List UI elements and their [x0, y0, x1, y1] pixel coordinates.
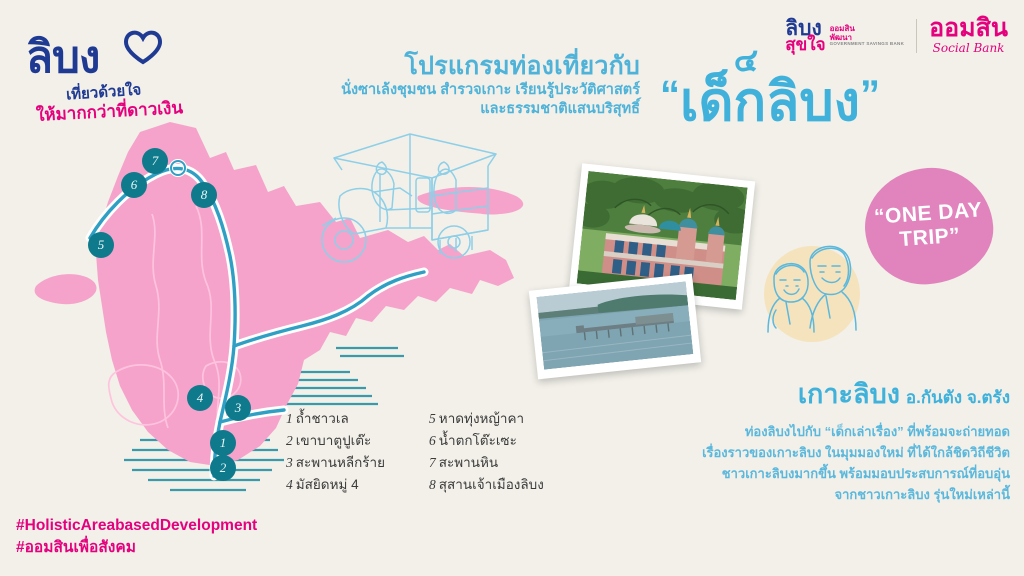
- gsb-bank-english: Social Bank: [929, 41, 1008, 55]
- island-description-line-4: จากชาวเกาะลิบง รุ่นใหม่เหล่านี้: [640, 484, 1010, 505]
- map-marker-3[interactable]: 3: [225, 395, 251, 421]
- island-description-line-2: เรื่องราวของเกาะลิบง ในมุมมองใหม่ ที่ได้…: [640, 442, 1010, 463]
- legend-label: หาดทุ่งหญ้าคา: [439, 411, 524, 426]
- legend-number: 4: [286, 477, 293, 492]
- legend-number: 7: [429, 455, 436, 470]
- program-subtitle-1: นั่งซาเล้งชุมชน สำรวจเกาะ เรียนรู้ประวัต…: [300, 81, 640, 101]
- map-marker-7[interactable]: 7: [142, 148, 168, 174]
- legend-number: 5: [429, 411, 436, 426]
- legend-number: 8: [429, 477, 436, 492]
- heart-icon: [122, 26, 164, 66]
- poster-canvas: ลิบง เที่ยวด้วยใจ ให้มากกว่าที่ดาวเงิน ล…: [0, 0, 1024, 576]
- big-title-word: เด็กลิบง: [680, 72, 860, 132]
- legend-item: 5หาดทุ่งหญ้าคา: [429, 408, 544, 430]
- legend-label: สะพานหิน: [439, 455, 498, 470]
- legend-item: 8สุสานเจ้าเมืองลิบง: [429, 474, 544, 496]
- legend-number: 6: [429, 433, 436, 448]
- legend-label: สะพานหลีกร้าย: [296, 455, 385, 470]
- island-description-block: เกาะลิบงอ.กันตัง จ.ตรัง ท่องลิบงไปกับ “เ…: [640, 372, 1010, 505]
- legend-number: 3: [286, 455, 293, 470]
- map-marker-8[interactable]: 8: [191, 182, 217, 208]
- brand-logo-text: ลิบง: [26, 36, 99, 80]
- gsb-bank-logo: ออมสิน Social Bank: [929, 16, 1008, 55]
- legend-label: เขาบาตูปูเต๊ะ: [296, 433, 372, 448]
- two-children-illustration: [752, 232, 870, 350]
- legend-item: 1ถ้ำชาวเล: [286, 408, 385, 430]
- one-day-trip-badge: “ONE DAY TRIP”: [861, 164, 997, 289]
- map-marker-1[interactable]: 1: [210, 430, 236, 456]
- legend-item: 2เขาบาตูปูเต๊ะ: [286, 430, 385, 452]
- big-title-number: ๔: [572, 46, 920, 75]
- gsb-bank-thai: ออมสิน: [929, 16, 1008, 41]
- legend-number: 2: [286, 433, 293, 448]
- saleng-tuktuk-illustration: [282, 118, 512, 278]
- hashtags-block: #HolisticAreabasedDevelopment #ออมสินเพื…: [16, 515, 257, 558]
- legend-number: 1: [286, 411, 293, 426]
- legend-label: มัสยิดหมู่ 4: [296, 477, 359, 492]
- gsb-develop-text: ออมสิน พัฒนา GOVERNMENT SAVINGS BANK: [830, 25, 905, 47]
- island-description-line-3: ชาวเกาะลิบงมากขึ้น พร้อมมอบประสบการณ์ที่…: [640, 463, 1010, 484]
- islet-left: [35, 274, 97, 304]
- island-description: ท่องลิบงไปกับ “เด็กเล่าเรื่อง” ที่พร้อมจ…: [640, 421, 1010, 505]
- brand-logo: ลิบง เที่ยวด้วยใจ ให้มากกว่าที่ดาวเงิน: [18, 18, 198, 123]
- legend-item: 7สะพานหิน: [429, 452, 544, 474]
- hashtag-2: #ออมสินเพื่อสังคม: [16, 537, 257, 558]
- pier-photo-image: [536, 281, 693, 369]
- island-heading: เกาะลิบงอ.กันตัง จ.ตรัง: [640, 372, 1010, 415]
- legend-label: น้ำตกโต๊ะเซะ: [439, 433, 517, 448]
- badge-line-2: TRIP”: [899, 224, 961, 252]
- map-marker-2[interactable]: 2: [210, 455, 236, 481]
- map-marker-6[interactable]: 6: [121, 172, 147, 198]
- legend-item: 3สะพานหลีกร้าย: [286, 452, 385, 474]
- illustration-backdrop: [764, 246, 860, 342]
- island-name: เกาะลิบง: [798, 379, 900, 409]
- big-title: ๔ “เด็กลิบง”: [620, 46, 920, 129]
- legend-item: 4มัสยิดหมู่ 4: [286, 474, 385, 496]
- map-marker-4[interactable]: 4: [187, 385, 213, 411]
- pier-photo[interactable]: [529, 274, 701, 380]
- legend-item: 6น้ำตกโต๊ะเซะ: [429, 430, 544, 452]
- island-province: อ.กันตัง จ.ตรัง: [906, 388, 1010, 407]
- legend-label: สุสานเจ้าเมืองลิบง: [439, 477, 544, 492]
- legend-label: ถ้ำชาวเล: [296, 411, 349, 426]
- hashtag-1: #HolisticAreabasedDevelopment: [16, 515, 257, 536]
- map-legend: 1ถ้ำชาวเล 2เขาบาตูปูเต๊ะ 3สะพานหลีกร้าย …: [286, 408, 544, 495]
- quote-open: “: [660, 73, 680, 117]
- island-description-line-1: ท่องลิบงไปกับ “เด็กเล่าเรื่อง” ที่พร้อมจ…: [640, 421, 1010, 442]
- legend-column-1: 1ถ้ำชาวเล 2เขาบาตูปูเต๊ะ 3สะพานหลีกร้าย …: [286, 408, 385, 495]
- pier-photo-frame: [536, 281, 693, 369]
- big-title-main: “เด็กลิบง”: [620, 75, 920, 129]
- quote-close: ”: [860, 73, 880, 117]
- map-marker-5[interactable]: 5: [88, 232, 114, 258]
- legend-column-2: 5หาดทุ่งหญ้าคา 6น้ำตกโต๊ะเซะ 7สะพานหิน 8…: [429, 408, 544, 495]
